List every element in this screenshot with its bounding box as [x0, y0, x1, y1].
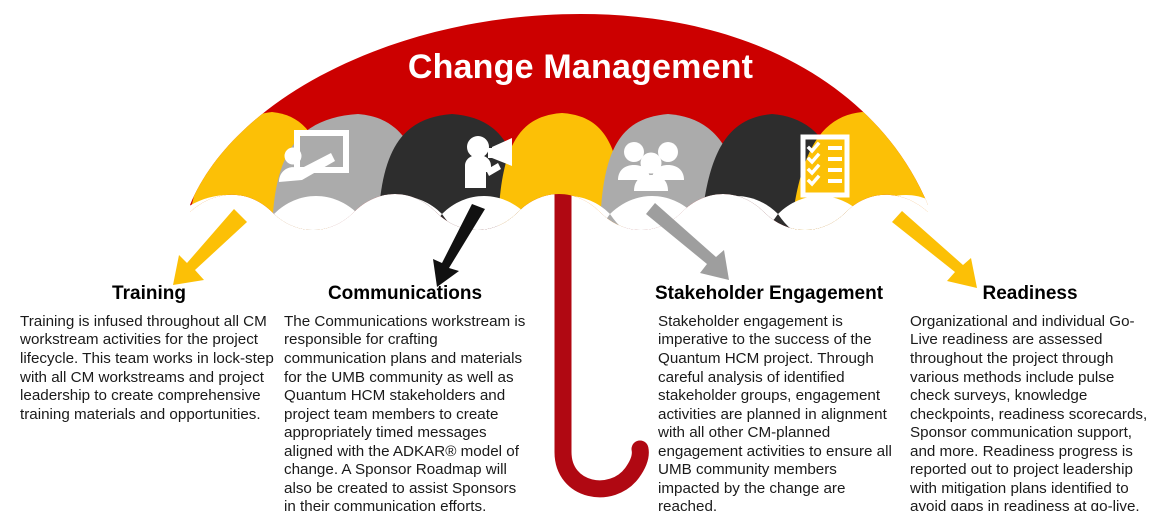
- column-stakeholder-engagement: Stakeholder Engagement Stakeholder engag…: [638, 284, 900, 511]
- stakeholder-arrow: [646, 203, 729, 280]
- column-training: Training Training is infused throughout …: [20, 284, 278, 424]
- column-communications: Communications The Communications workst…: [284, 284, 526, 511]
- readiness-arrow: [892, 211, 977, 288]
- readiness-body: Organizational and individual Go-Live re…: [910, 313, 1150, 511]
- training-body: Training is infused throughout all CM wo…: [20, 313, 278, 424]
- training-heading: Training: [20, 284, 278, 305]
- readiness-heading: Readiness: [910, 284, 1150, 305]
- training-arrow: [173, 209, 247, 285]
- stakeholder-body: Stakeholder engagement is imperative to …: [638, 313, 900, 511]
- handle-upper-stem: [555, 196, 572, 266]
- column-readiness: Readiness Organizational and individual …: [910, 284, 1150, 511]
- communications-heading: Communications: [284, 284, 526, 305]
- communications-body: The Communications workstream is respons…: [284, 313, 526, 511]
- canopy-scallops: [180, 195, 980, 280]
- infographic-canvas: Change Management Training Training is i…: [0, 0, 1161, 511]
- stakeholder-heading: Stakeholder Engagement: [638, 284, 900, 305]
- umbrella-canopy: [180, 0, 1140, 280]
